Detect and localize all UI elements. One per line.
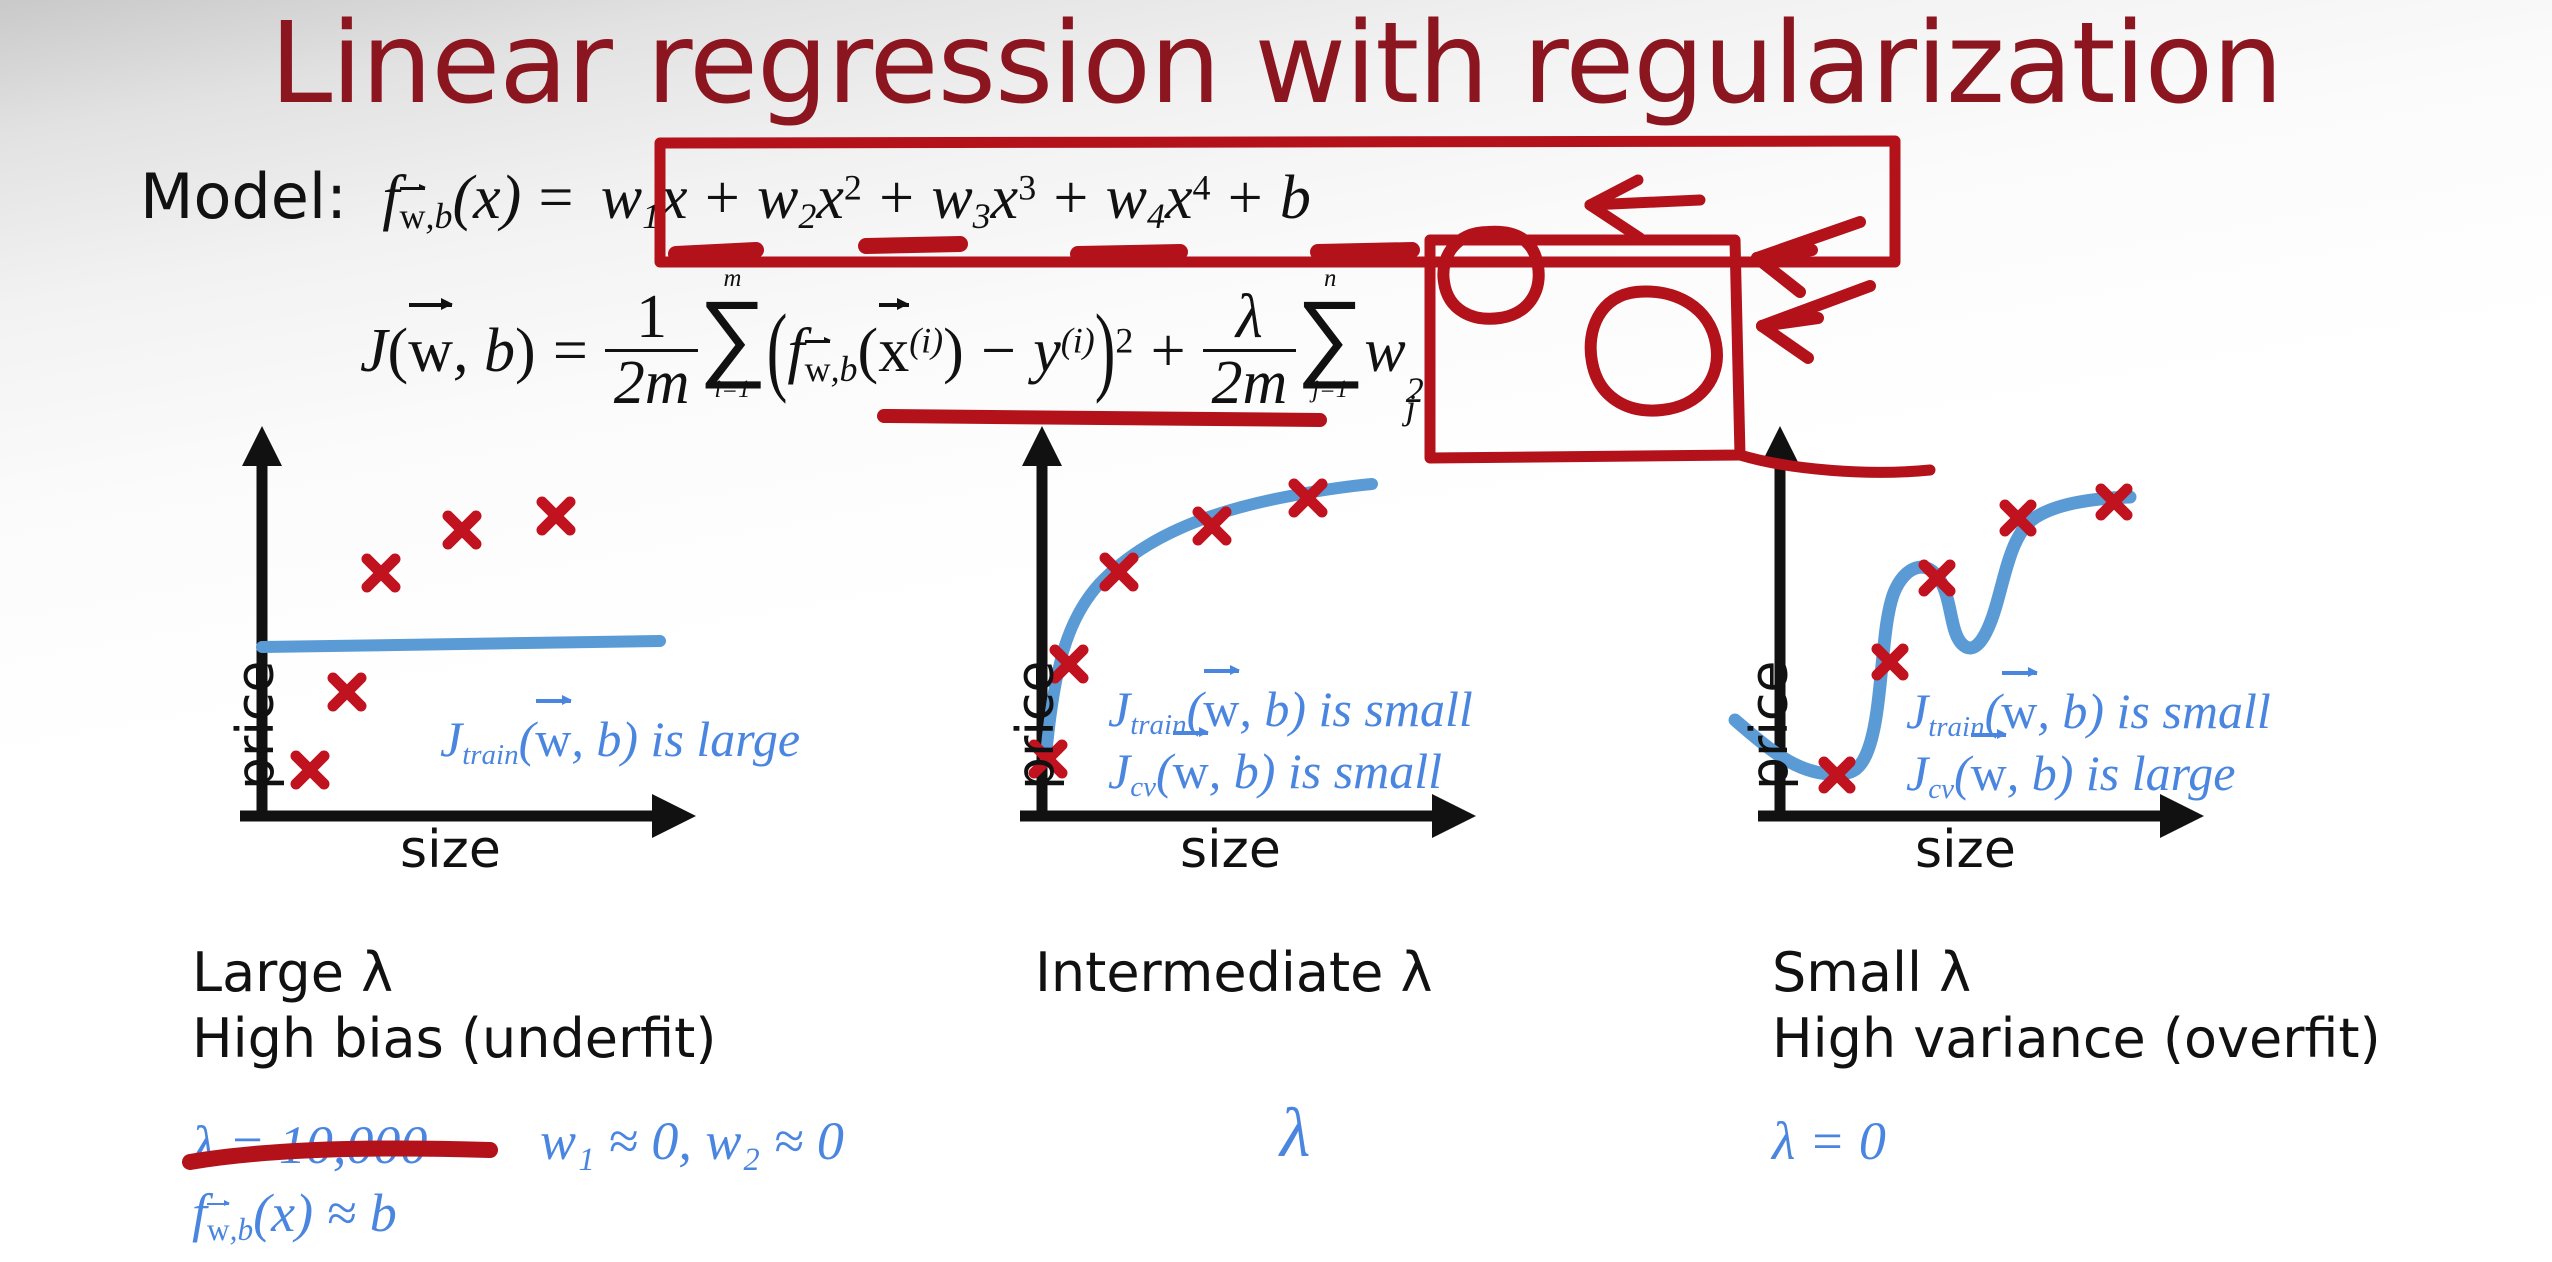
model-bias: b [1280, 164, 1311, 232]
blue-lambda-zero: λ = 0 [1772, 1108, 1886, 1176]
annot-tail-2a: is small [1306, 681, 1473, 737]
blue-weights-approx-zero: w₁ ≈ 0, w₂ ≈ 0 [540, 1108, 844, 1176]
x-axis-label-size-2: size [1180, 820, 1281, 880]
annot-sub-3a: train [1928, 711, 1984, 743]
model-term-4-coef: w [1106, 164, 1147, 232]
cost-lambda: λ [1203, 286, 1296, 349]
caption-small-lambda-line1: Small λ [1772, 940, 2381, 1006]
panel-large-lambda: price size Jtrain(w, b) is large [200, 420, 740, 840]
annotation-jtrain-small-2: Jtrain(w, b) is small [1108, 680, 1473, 743]
cost-sum1-symbol: ∑ [698, 291, 767, 379]
model-term-3-var: x [991, 164, 1019, 232]
cost-x-superscript: (i) [909, 321, 943, 361]
annot-tail-3a: is small [2104, 683, 2271, 739]
y-axis-label-price-2: price [1006, 661, 1066, 790]
fit-line-flat [262, 641, 660, 647]
annot-sub-2b: cv [1130, 771, 1156, 803]
model-term-2-power: 2 [844, 167, 862, 207]
model-plus-3: + [1053, 164, 1088, 232]
model-plus-1: + [705, 164, 740, 232]
cost-summation-2: n ∑ j=1 [1296, 268, 1365, 402]
cost-fraction-1: 1 2m [605, 286, 698, 415]
cost-y-superscript: (i) [1061, 321, 1095, 361]
blue-f-rest: (x) ≈ b [253, 1183, 397, 1243]
model-term-4-var: x [1165, 164, 1193, 232]
cost-minus: − [981, 317, 1016, 385]
caption-small-lambda-line2: High variance (overfit) [1772, 1006, 2381, 1072]
cost-wj-symbol: w [1364, 317, 1405, 385]
annot-J-1: J [440, 711, 462, 767]
caption-intermediate-lambda-line1: Intermediate λ [1035, 940, 1433, 1006]
annot-J-3a: J [1906, 683, 1928, 739]
ink-arrow-reg-2 [1762, 286, 1870, 358]
ink-arrow-to-b [1590, 180, 1700, 238]
model-term-3-power: 3 [1018, 167, 1036, 207]
model-term-2-coef: w [757, 164, 798, 232]
annotation-jtrain-large: Jtrain(w, b) is large [440, 710, 800, 773]
caption-large-lambda: Large λ High bias (underfit) [192, 940, 716, 1072]
annot-sub-1: train [462, 739, 518, 771]
model-f-symbol: f [382, 164, 399, 232]
ink-circle-wj-squared [1591, 291, 1717, 410]
annot-tail-1: is large [638, 711, 800, 767]
cost-J-symbol: J [360, 317, 388, 385]
ink-arrow-reg-1 [1757, 222, 1860, 292]
model-label: Model: [140, 160, 347, 233]
annotation-jcv-large-3: Jcv(w, b) is large [1906, 744, 2235, 807]
model-term-2-index: 2 [798, 196, 816, 236]
model-term-1-var: x [660, 164, 688, 232]
model-term-4-index: 4 [1147, 196, 1165, 236]
annot-J-3b: J [1906, 745, 1928, 801]
cost-vec-w: w [408, 316, 453, 387]
annot-args-3b: (w, b) [1954, 745, 2073, 801]
annot-sub-3b: cv [1928, 773, 1954, 805]
panel-intermediate-lambda: price size Jtrain(w, b) is small Jcv(w, … [980, 420, 1520, 840]
model-term-1-coef: w [601, 164, 642, 232]
blue-f-approx-b: fw,b(x) ≈ b [192, 1180, 397, 1249]
caption-large-lambda-line2: High bias (underfit) [192, 1006, 716, 1072]
model-term-4-power: 4 [1192, 167, 1210, 207]
y-axis-label-price-1: price [226, 661, 286, 790]
caption-small-lambda: Small λ High variance (overfit) [1772, 940, 2381, 1072]
x-axis-label-size-1: size [400, 820, 501, 880]
blue-lambda-value-large: λ = 10,000 [192, 1112, 427, 1180]
blue-lambda-intermediate: λ [1280, 1090, 1310, 1178]
cost-sum2-symbol: ∑ [1296, 291, 1365, 379]
caption-intermediate-lambda: Intermediate λ [1035, 940, 1433, 1006]
model-plus-2: + [879, 164, 914, 232]
cost-plus: + [1151, 317, 1186, 385]
model-f-subscript-w: w [400, 195, 426, 237]
cost-function-equation: J(w, b) = 1 2m m ∑ i=1 (fw,b(x(i)) − y(i… [360, 268, 1432, 416]
blue-f-symbol: f [192, 1183, 207, 1243]
cost-frac1-numerator: 1 [605, 286, 698, 349]
cost-x-vector: x [878, 316, 909, 387]
cost-comma-b: , b [453, 317, 515, 385]
annotation-jtrain-small-3: Jtrain(w, b) is small [1906, 682, 2271, 745]
cost-y-symbol: y [1033, 317, 1061, 385]
ink-underlines-weights [676, 244, 1412, 254]
cost-summation-1: m ∑ i=1 [698, 268, 767, 402]
cost-frac1-denominator: 2m [605, 349, 698, 415]
model-of-x: (x) [452, 164, 521, 232]
model-term-2-var: x [816, 164, 844, 232]
caption-large-lambda-line1: Large λ [192, 940, 716, 1006]
cost-fraction-2: λ 2m [1203, 286, 1296, 415]
cost-square-exponent: 2 [1115, 321, 1133, 361]
cost-frac2-denominator: 2m [1203, 349, 1296, 415]
annot-tail-3b: is large [2073, 745, 2235, 801]
model-term-1-index: 1 [642, 196, 660, 236]
x-axis-label-size-3: size [1915, 820, 2016, 880]
slide-canvas: Linear regression with regularization Mo… [0, 0, 2552, 1262]
model-equation: Model: fw,b(x) = w1x + w2x2 + w3x3 + w4x… [140, 160, 1311, 237]
annot-tail-2b: is small [1275, 743, 1442, 799]
annotation-jcv-small-2: Jcv(w, b) is small [1108, 742, 1442, 805]
ink-circle-lambda [1443, 232, 1538, 319]
cost-equals: = [553, 317, 588, 385]
annot-args-1: (w, b) [519, 711, 638, 767]
y-axis-label-price-3: price [1740, 661, 1800, 790]
model-equals: = [539, 164, 574, 232]
cost-f-symbol: f [787, 317, 804, 385]
annot-args-2b: (w, b) [1156, 743, 1275, 799]
annot-J-2a: J [1108, 681, 1130, 737]
annot-J-2b: J [1108, 743, 1130, 799]
page-title: Linear regression with regularization [0, 8, 2552, 120]
panel-small-lambda: price size Jtrain(w, b) is small Jcv(w, … [1700, 420, 2320, 840]
model-plus-4: + [1228, 164, 1263, 232]
model-term-3-index: 3 [973, 196, 991, 236]
model-term-3-coef: w [931, 164, 972, 232]
model-f-subscript-b: ,b [425, 196, 452, 236]
annot-sub-2a: train [1130, 709, 1186, 741]
